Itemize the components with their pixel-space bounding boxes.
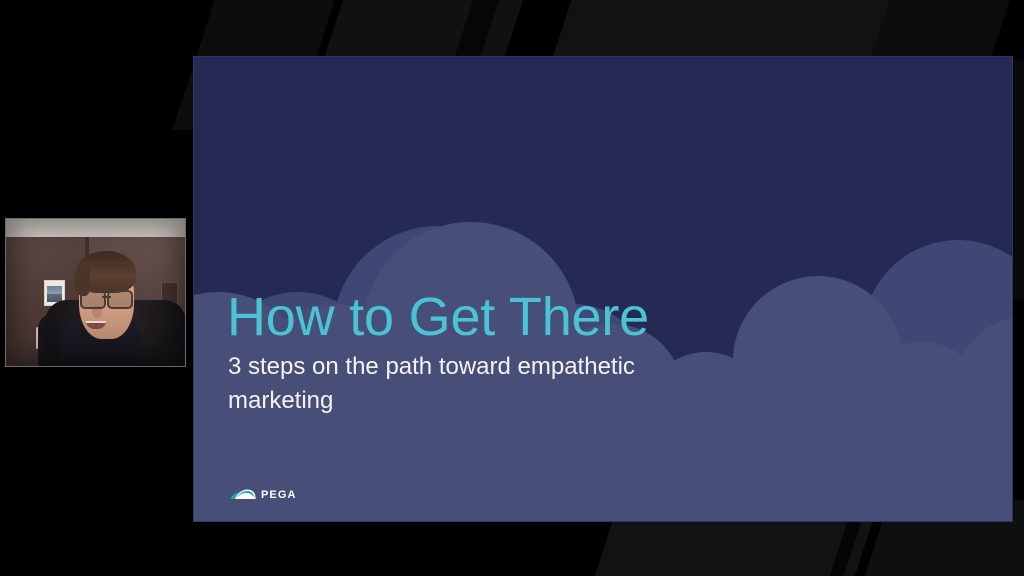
- slide-title: How to Get There: [227, 290, 649, 344]
- video-vignette: [5, 218, 186, 367]
- presenter-video-thumbnail[interactable]: [5, 218, 186, 367]
- presentation-slide[interactable]: How to Get There 3 steps on the path tow…: [193, 56, 1013, 522]
- slide-subtitle: 3 steps on the path toward empathetic ma…: [228, 350, 658, 418]
- pega-wordmark: PEGA: [261, 489, 297, 501]
- pega-swoosh-icon: [230, 488, 256, 501]
- video-frame: How to Get There 3 steps on the path tow…: [0, 0, 1024, 576]
- pega-logo: PEGA: [230, 488, 297, 501]
